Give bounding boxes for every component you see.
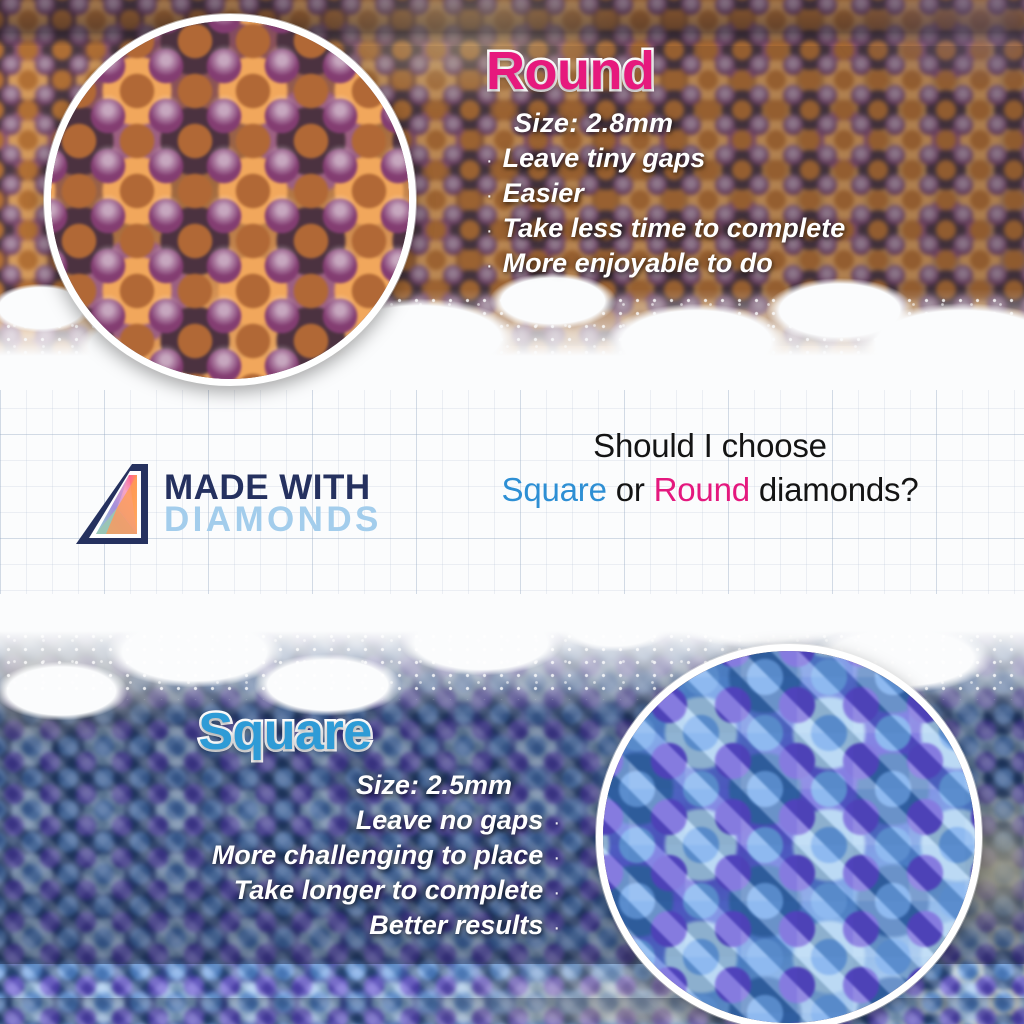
question-line-2: Square or Round diamonds? [430, 468, 990, 512]
bullet-icon: · [486, 221, 493, 241]
brand-logo[interactable]: MADE WITH DIAMONDS [72, 462, 382, 546]
round-feature-label: Take less time to complete [503, 211, 846, 246]
bullet-icon: · [486, 256, 493, 276]
round-feature-item: · Take less time to complete [486, 211, 1006, 246]
round-feature-label: Easier [503, 176, 584, 211]
round-feature-label: Leave tiny gaps [503, 141, 706, 176]
square-feature-label: More challenging to place [212, 838, 544, 873]
square-feature-item: More challenging to place · [40, 838, 560, 873]
question-token-or: or [607, 471, 654, 508]
bullet-icon: · [553, 918, 560, 938]
square-magnifier-lens [596, 644, 982, 1024]
square-feature-item: Take longer to complete · [40, 873, 560, 908]
square-feature-item: Leave no gaps · [40, 803, 560, 838]
square-feature-label: Take longer to complete [234, 873, 544, 908]
question-token-round: Round [654, 471, 750, 508]
round-feature-item: · Leave tiny gaps [486, 141, 1006, 176]
question-token-tail: diamonds? [750, 471, 919, 508]
round-size-label: Size: 2.8mm [514, 106, 1006, 141]
bullet-icon: · [553, 883, 560, 903]
square-feature-label: Better results [369, 908, 543, 943]
round-feature-item: · Easier [486, 176, 1006, 211]
logo-wordmark: MADE WITH DIAMONDS [164, 472, 382, 536]
round-lens-photo [44, 14, 416, 386]
infographic-canvas: Round Size: 2.8mm · Leave tiny gaps · Ea… [0, 0, 1024, 1024]
round-text-block: Round Size: 2.8mm · Leave tiny gaps · Ea… [486, 44, 1006, 281]
round-feature-label: More enjoyable to do [503, 246, 773, 281]
question-token-square: Square [502, 471, 607, 508]
question-line-1: Should I choose [430, 424, 990, 468]
square-lens-photo [596, 644, 982, 1024]
round-magnifier-lens [44, 14, 416, 386]
diamond-logo-icon [72, 462, 150, 546]
square-text-block: Square Size: 2.5mm Leave no gaps · More … [40, 706, 560, 943]
square-feature-item: Better results · [40, 908, 560, 943]
center-question: Should I choose Square or Round diamonds… [430, 424, 990, 511]
bullet-icon: · [553, 848, 560, 868]
square-feature-label: Leave no gaps [356, 803, 544, 838]
logo-line-diamonds: DIAMONDS [164, 504, 382, 536]
square-title: Square [40, 706, 560, 758]
bullet-icon: · [486, 186, 493, 206]
bullet-icon: · [553, 813, 560, 833]
round-feature-item: · More enjoyable to do [486, 246, 1006, 281]
round-title: Round [486, 44, 1006, 98]
square-size-label: Size: 2.5mm [40, 768, 512, 803]
bullet-icon: · [486, 151, 493, 171]
